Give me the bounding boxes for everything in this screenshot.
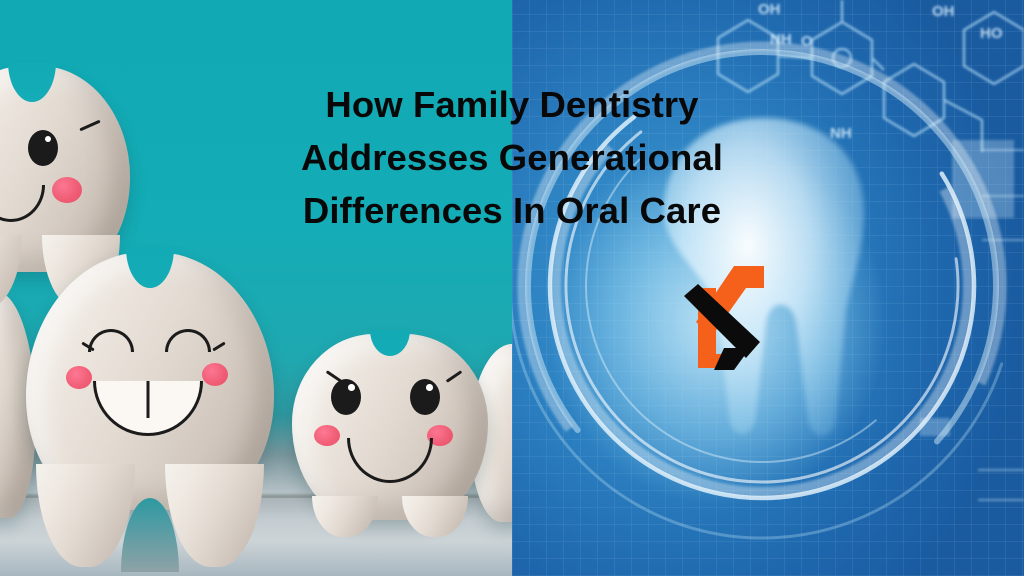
mouth-icon xyxy=(93,381,203,436)
eye-icon xyxy=(410,379,440,415)
eye-gleam xyxy=(426,384,433,390)
blush-icon xyxy=(202,363,228,386)
blush-icon xyxy=(314,425,340,446)
page-title: How Family Dentistry Addresses Generatio… xyxy=(0,78,1024,237)
tooth-divider xyxy=(146,381,149,418)
title-line-2: Addresses Generational xyxy=(0,131,1024,184)
blush-icon xyxy=(66,366,92,389)
face-small-right xyxy=(292,334,488,520)
brand-logo[interactable] xyxy=(668,262,774,374)
title-line-1: How Family Dentistry xyxy=(0,78,1024,131)
blush-icon xyxy=(427,425,453,446)
mouth-icon xyxy=(347,438,433,483)
root-gap xyxy=(121,498,179,572)
eyelash-icon xyxy=(326,370,343,383)
eyelash-icon xyxy=(81,341,94,351)
title-line-3: Differences In Oral Care xyxy=(0,184,1024,237)
tooth-figurine-small-right xyxy=(292,334,488,520)
eye-icon xyxy=(331,379,361,415)
eye-closed-icon xyxy=(165,329,211,352)
hero-banner: O NH HO NH OH OH xyxy=(0,0,1024,576)
eye-gleam xyxy=(348,384,355,390)
eyelash-icon xyxy=(446,370,463,383)
eyelash-icon xyxy=(212,341,225,351)
eye-closed-icon xyxy=(88,329,134,352)
crown-notch xyxy=(126,248,174,288)
face-center xyxy=(26,252,274,510)
crown-notch xyxy=(370,330,410,356)
tooth-figurine-center xyxy=(26,252,274,510)
